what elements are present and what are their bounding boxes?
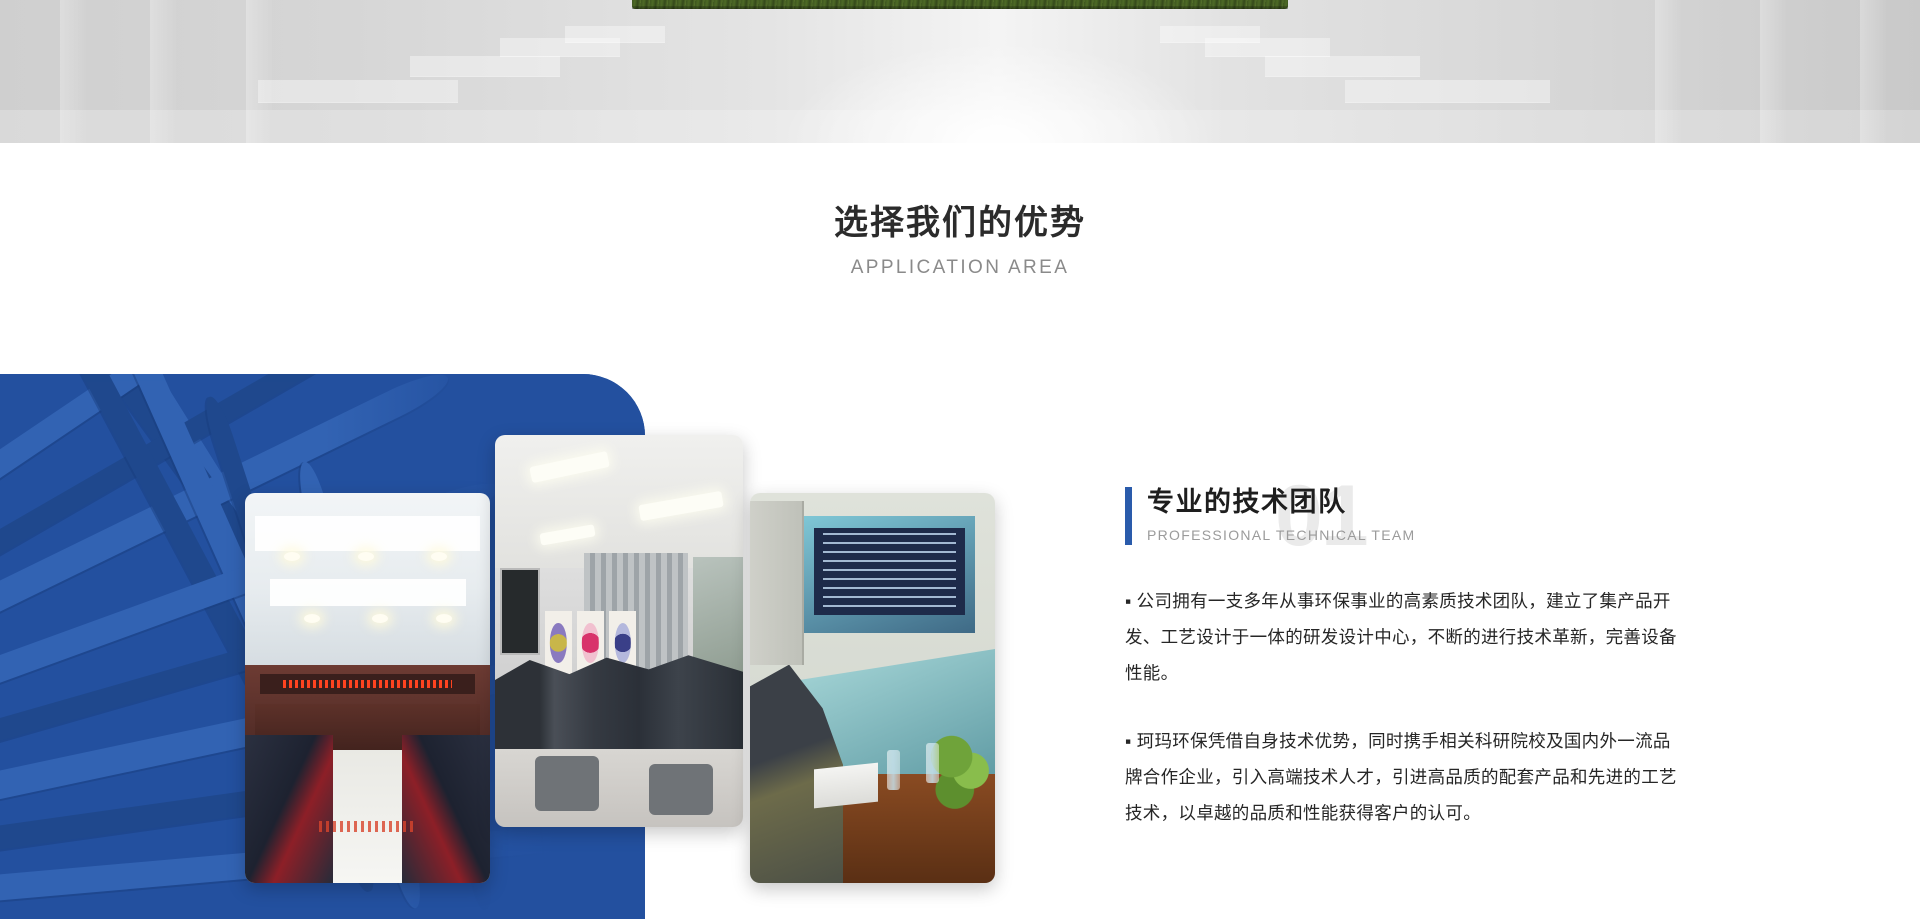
feature-block: 01 专业的技术团队 PROFESSIONAL TECHNICAL TEAM ▪… [1125, 485, 1685, 831]
photo-meeting-room[interactable] [495, 435, 743, 827]
feature-paragraph-1: ▪ 公司拥有一支多年从事环保事业的高素质技术团队，建立了集产品开发、工艺设计于一… [1125, 583, 1685, 691]
page-title: 选择我们的优势 [0, 200, 1920, 246]
feature-header: 01 专业的技术团队 PROFESSIONAL TECHNICAL TEAM [1125, 485, 1685, 557]
photo-conference-hall[interactable] [245, 493, 490, 883]
page-root: 选择我们的优势 APPLICATION AREA [0, 0, 1920, 919]
photo-projector-briefing[interactable] [750, 493, 995, 883]
banner-architecture-steps [0, 0, 1920, 143]
section-heading: 选择我们的优势 APPLICATION AREA [0, 200, 1920, 279]
feature-title-cn: 专业的技术团队 [1147, 485, 1685, 519]
page-subtitle: APPLICATION AREA [0, 257, 1920, 279]
accent-bar [1125, 487, 1132, 545]
grass-image-strip [632, 0, 1288, 9]
feature-paragraph-2: ▪ 珂玛环保凭借自身技术优势，同时携手相关科研院校及国内外一流品牌合作企业，引入… [1125, 723, 1685, 831]
feature-title-en: PROFESSIONAL TECHNICAL TEAM [1147, 527, 1685, 543]
top-banner-image [0, 0, 1920, 143]
